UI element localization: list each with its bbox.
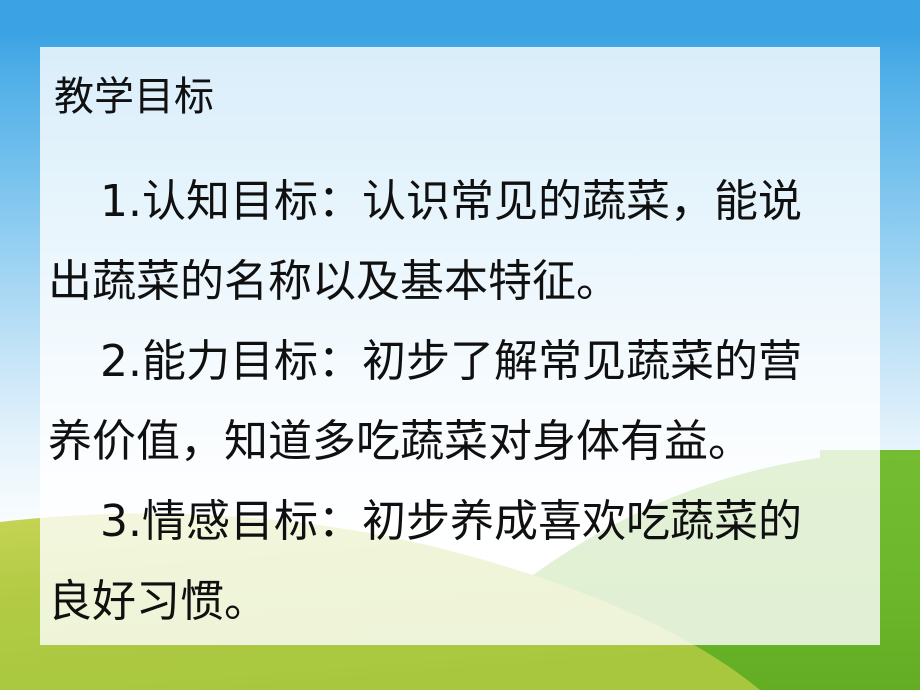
slide-canvas: 教学目标 1.认知目标：认识常见的蔬菜，能说 出蔬菜的名称以及基本特征。 2.能… xyxy=(0,0,920,690)
page-title: 教学目标 xyxy=(54,77,214,117)
objective-2-line-1: 2.能力目标：初步了解常见蔬菜的营 xyxy=(48,322,874,402)
objective-2-line-2: 养价值，知道多吃蔬菜对身体有益。 xyxy=(48,402,874,482)
objective-3-line-2: 良好习惯。 xyxy=(48,562,874,642)
content-panel: 教学目标 1.认知目标：认识常见的蔬菜，能说 出蔬菜的名称以及基本特征。 2.能… xyxy=(40,47,880,645)
objective-1-line-2: 出蔬菜的名称以及基本特征。 xyxy=(48,242,874,322)
objectives-list: 1.认知目标：认识常见的蔬菜，能说 出蔬菜的名称以及基本特征。 2.能力目标：初… xyxy=(48,162,874,642)
objective-3-line-1: 3.情感目标：初步养成喜欢吃蔬菜的 xyxy=(48,482,874,562)
objective-1-line-1: 1.认知目标：认识常见的蔬菜，能说 xyxy=(48,162,874,242)
